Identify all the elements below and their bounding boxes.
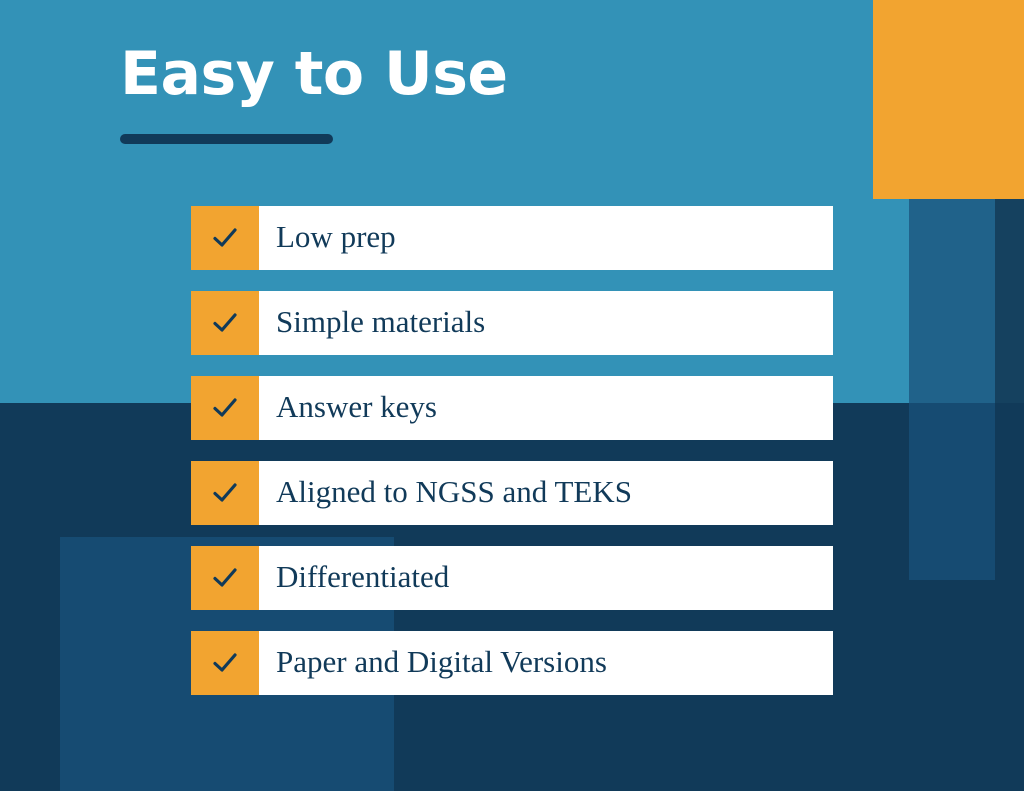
- list-item[interactable]: Answer keys: [191, 376, 833, 440]
- list-item[interactable]: Simple materials: [191, 291, 833, 355]
- slide-canvas: Easy to Use Low prep S: [0, 0, 1024, 791]
- list-item[interactable]: Differentiated: [191, 546, 833, 610]
- list-item[interactable]: Paper and Digital Versions: [191, 631, 833, 695]
- check-icon: [211, 309, 239, 337]
- feature-label: Simple materials: [259, 291, 833, 355]
- check-icon: [211, 479, 239, 507]
- feature-label: Paper and Digital Versions: [259, 631, 833, 695]
- check-icon: [211, 564, 239, 592]
- page-title: Easy to Use: [120, 38, 880, 110]
- checkbox-checked[interactable]: [191, 206, 259, 270]
- feature-checklist: Low prep Simple materials Answer: [191, 206, 833, 695]
- feature-label: Low prep: [259, 206, 833, 270]
- checkbox-checked[interactable]: [191, 376, 259, 440]
- decorative-rect-navy-right-lower: [909, 403, 995, 580]
- feature-label: Differentiated: [259, 546, 833, 610]
- check-icon: [211, 394, 239, 422]
- list-item[interactable]: Aligned to NGSS and TEKS: [191, 461, 833, 525]
- checkbox-checked[interactable]: [191, 291, 259, 355]
- check-icon: [211, 224, 239, 252]
- title-underline-rule: [120, 134, 333, 144]
- decorative-rect-navy-edge: [995, 199, 1024, 403]
- feature-label: Answer keys: [259, 376, 833, 440]
- checkbox-checked[interactable]: [191, 461, 259, 525]
- checkbox-checked[interactable]: [191, 631, 259, 695]
- decorative-rect-navy-right-upper: [909, 199, 995, 403]
- feature-label: Aligned to NGSS and TEKS: [259, 461, 833, 525]
- title-block: Easy to Use: [120, 38, 880, 144]
- list-item[interactable]: Low prep: [191, 206, 833, 270]
- check-icon: [211, 649, 239, 677]
- decorative-rect-orange: [873, 0, 1024, 199]
- checkbox-checked[interactable]: [191, 546, 259, 610]
